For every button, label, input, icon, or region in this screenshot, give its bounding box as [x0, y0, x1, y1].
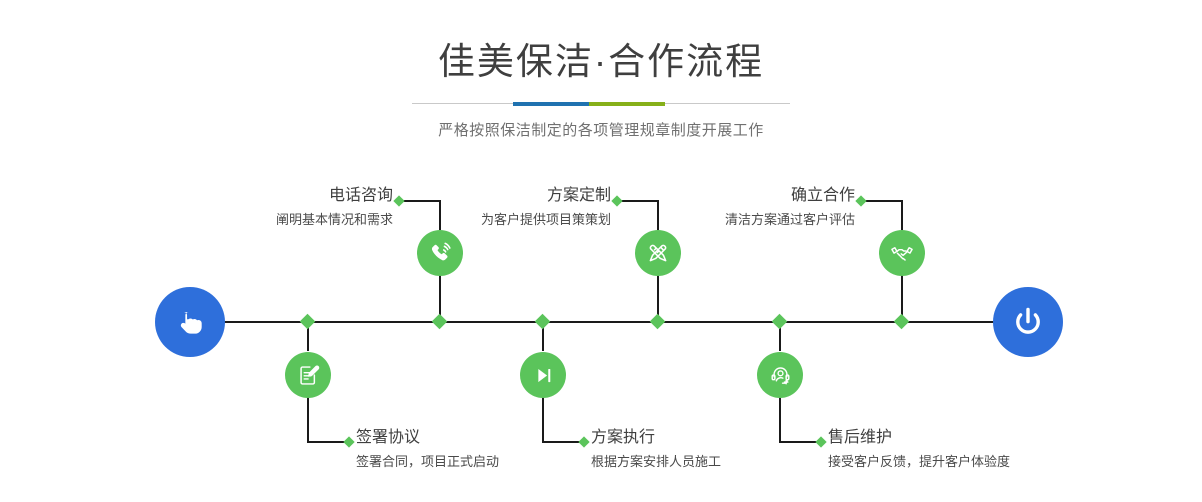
step-title-1: 电话咨询: [155, 186, 393, 206]
play-execute-icon: [531, 363, 556, 388]
step-label-6: 售后维护 接受客户反馈，提升客户体验度: [828, 428, 1108, 471]
divider-blue-segment: [513, 102, 589, 106]
stem-upper-step-5: [901, 201, 903, 230]
page-subtitle: 严格按照保洁制定的各项管理规章制度开展工作: [0, 119, 1202, 140]
step-icon-2[interactable]: [285, 352, 331, 398]
label-dot-step-2: [343, 436, 354, 447]
step-icon-1[interactable]: [417, 230, 463, 276]
document-edit-icon: [296, 363, 321, 388]
flow-diagram-canvas: 佳美保洁·合作流程 严格按照保洁制定的各项管理规章制度开展工作: [0, 0, 1202, 502]
power-button-icon: [1008, 302, 1048, 342]
step-label-3: 方案定制 为客户提供项目策策划: [373, 186, 611, 229]
pencil-ruler-icon: [645, 240, 671, 266]
page-title: 佳美保洁·合作流程: [0, 42, 1202, 83]
divider-green-segment: [589, 102, 665, 106]
stem-lower-step-6: [779, 397, 781, 442]
step-icon-3[interactable]: [635, 230, 681, 276]
timeline-end-node[interactable]: [993, 287, 1063, 357]
phone-call-icon: [427, 240, 453, 266]
step-label-5: 确立合作 清洁方案通过客户评估: [617, 186, 855, 229]
step-desc-6: 接受客户反馈，提升客户体验度: [828, 453, 1108, 471]
step-label-1: 电话咨询 阐明基本情况和需求: [155, 186, 393, 229]
axis-marker-step-3: [650, 314, 666, 330]
step-icon-5[interactable]: [879, 230, 925, 276]
title-divider: [412, 101, 790, 107]
stem-lower-step-4: [542, 397, 544, 442]
label-dot-step-5: [855, 195, 866, 206]
axis-marker-step-1: [432, 314, 448, 330]
step-title-3: 方案定制: [373, 186, 611, 206]
timeline-start-node[interactable]: [155, 287, 225, 357]
step-desc-2: 签署合同，项目正式启动: [356, 453, 616, 471]
page-header: 佳美保洁·合作流程 严格按照保洁制定的各项管理规章制度开展工作: [0, 0, 1202, 140]
leader-step-5: [861, 200, 903, 202]
axis-marker-step-5: [894, 314, 910, 330]
handshake-icon: [889, 240, 915, 266]
step-label-4: 方案执行 根据方案安排人员施工: [591, 428, 851, 471]
step-title-2: 签署协议: [356, 428, 616, 448]
stem-lower-step-2: [307, 397, 309, 442]
axis-marker-step-2: [300, 314, 316, 330]
step-title-4: 方案执行: [591, 428, 851, 448]
step-icon-4[interactable]: [520, 352, 566, 398]
step-label-2: 签署协议 签署合同，项目正式启动: [356, 428, 616, 471]
step-desc-4: 根据方案安排人员施工: [591, 453, 851, 471]
step-desc-1: 阐明基本情况和需求: [155, 211, 393, 229]
axis-marker-step-6: [772, 314, 788, 330]
axis-marker-step-4: [535, 314, 551, 330]
step-desc-3: 为客户提供项目策策划: [373, 211, 611, 229]
step-desc-5: 清洁方案通过客户评估: [617, 211, 855, 229]
pointing-hand-icon: [171, 303, 209, 341]
step-icon-6[interactable]: [757, 352, 803, 398]
customer-support-icon: [768, 363, 793, 388]
step-title-5: 确立合作: [617, 186, 855, 206]
step-title-6: 售后维护: [828, 428, 1108, 448]
